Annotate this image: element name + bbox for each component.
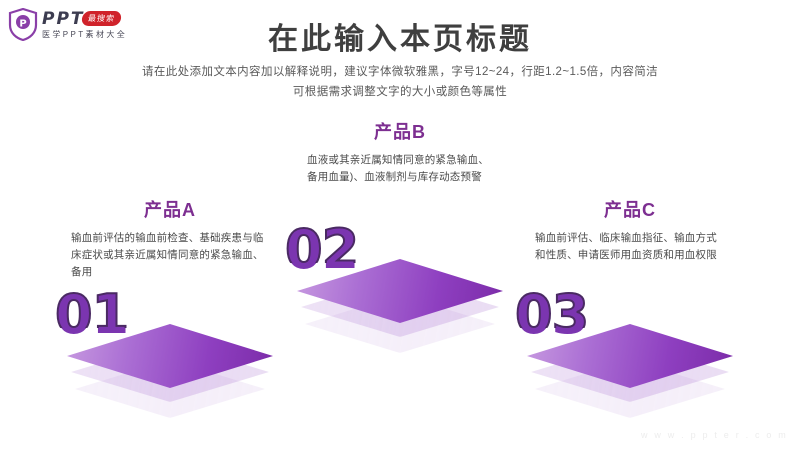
product-block-b: 产品B 血液或其亲近属知情同意的紧急输血、备用血量)、血液制剂与库存动态预警 — [285, 118, 515, 186]
platform-number-outline: 02 — [285, 223, 515, 263]
product-block-a: 产品A 输血前评估的输血前检查、基础疾患与临床症状或其亲近属知情同意的紧急输血、… — [55, 196, 285, 281]
subtitle-line-1: 请在此处添加文本内容加以解释说明，建议字体微软雅黑，字号12~24，行距1.2~… — [0, 62, 800, 82]
page-title: 在此输入本页标题 — [0, 14, 800, 58]
platform-step-03: 03 03 — [515, 280, 745, 430]
product-b-title: 产品B — [285, 118, 515, 144]
site-watermark: w w w . p p t e r . c o m — [641, 430, 788, 440]
product-block-c: 产品C 输血前评估、临床输血指征、输血方式和性质、申请医师用血资质和用血权限 — [515, 196, 745, 264]
product-a-title: 产品A — [55, 196, 285, 222]
subtitle-line-2: 可根据需求调整文字的大小或颜色等属性 — [0, 82, 800, 102]
product-b-description: 血液或其亲近属知情同意的紧急输血、备用血量)、血液制剂与库存动态预警 — [285, 152, 515, 186]
product-c-description: 输血前评估、临床输血指征、输血方式和性质、申请医师用血资质和用血权限 — [515, 230, 745, 264]
platform-step-02: 02 02 — [285, 215, 515, 365]
product-c-title: 产品C — [515, 196, 745, 222]
platform-number-outline: 01 — [55, 288, 285, 328]
platform-number-outline: 03 — [515, 288, 745, 328]
product-a-description: 输血前评估的输血前检查、基础疾患与临床症状或其亲近属知情同意的紧急输血、备用 — [55, 230, 285, 281]
page-subtitle: 请在此处添加文本内容加以解释说明，建议字体微软雅黑，字号12~24，行距1.2~… — [0, 62, 800, 102]
platform-step-01: 01 01 — [55, 280, 285, 430]
